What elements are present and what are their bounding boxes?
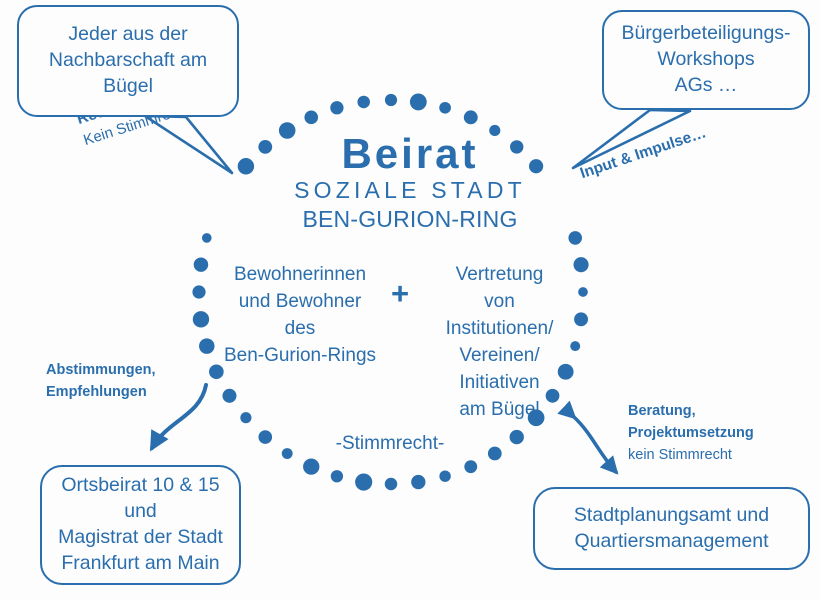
label-beratung-sub: kein Stimmrecht — [628, 445, 818, 467]
bubble-workshops[interactable]: Bürgerbeteiligungs-WorkshopsAGs … — [602, 10, 810, 110]
diagram-canvas: Jeder aus derNachbarschaft amBügel Bürge… — [0, 0, 820, 600]
box-ortsbeirat-text: Ortsbeirat 10 & 15undMagistrat der Stadt… — [58, 473, 223, 577]
arrow-beratung — [574, 417, 616, 472]
label-beratung-main: Beratung,Projektumsetzung — [628, 401, 818, 445]
subtitle-ben-gurion-ring: BEN-GURION-RING — [0, 205, 820, 233]
voting-rights-note: -Stimmrecht- — [270, 432, 510, 455]
plus-icon: + — [385, 278, 415, 309]
box-ortsbeirat-magistrat[interactable]: Ortsbeirat 10 & 15undMagistrat der Stadt… — [40, 465, 241, 585]
label-beratung-projektumsetzung: Beratung,Projektumsetzung kein Stimmrech… — [628, 401, 818, 466]
box-stadtplanung-text: Stadtplanungsamt undQuartiersmanagement — [574, 503, 769, 555]
bubble-workshops-text: Bürgerbeteiligungs-WorkshopsAGs … — [621, 21, 790, 99]
members-residents: Bewohnerinnenund BewohnerdesBen-Gurion-R… — [205, 262, 395, 370]
label-abstimmungen-empfehlungen: Abstimmungen,Empfehlungen — [46, 360, 216, 404]
bubble-neighbourhood-text: Jeder aus derNachbarschaft amBügel — [49, 22, 207, 100]
box-stadtplanungsamt-quartiersmanagement[interactable]: Stadtplanungsamt undQuartiersmanagement — [533, 487, 810, 570]
subtitle-soziale-stadt: SOZIALE STADT — [0, 176, 820, 204]
bubble-neighbourhood[interactable]: Jeder aus derNachbarschaft amBügel — [17, 5, 239, 117]
members-institutions: VertretungvonInstitutionen/Vereinen/Init… — [412, 262, 587, 424]
